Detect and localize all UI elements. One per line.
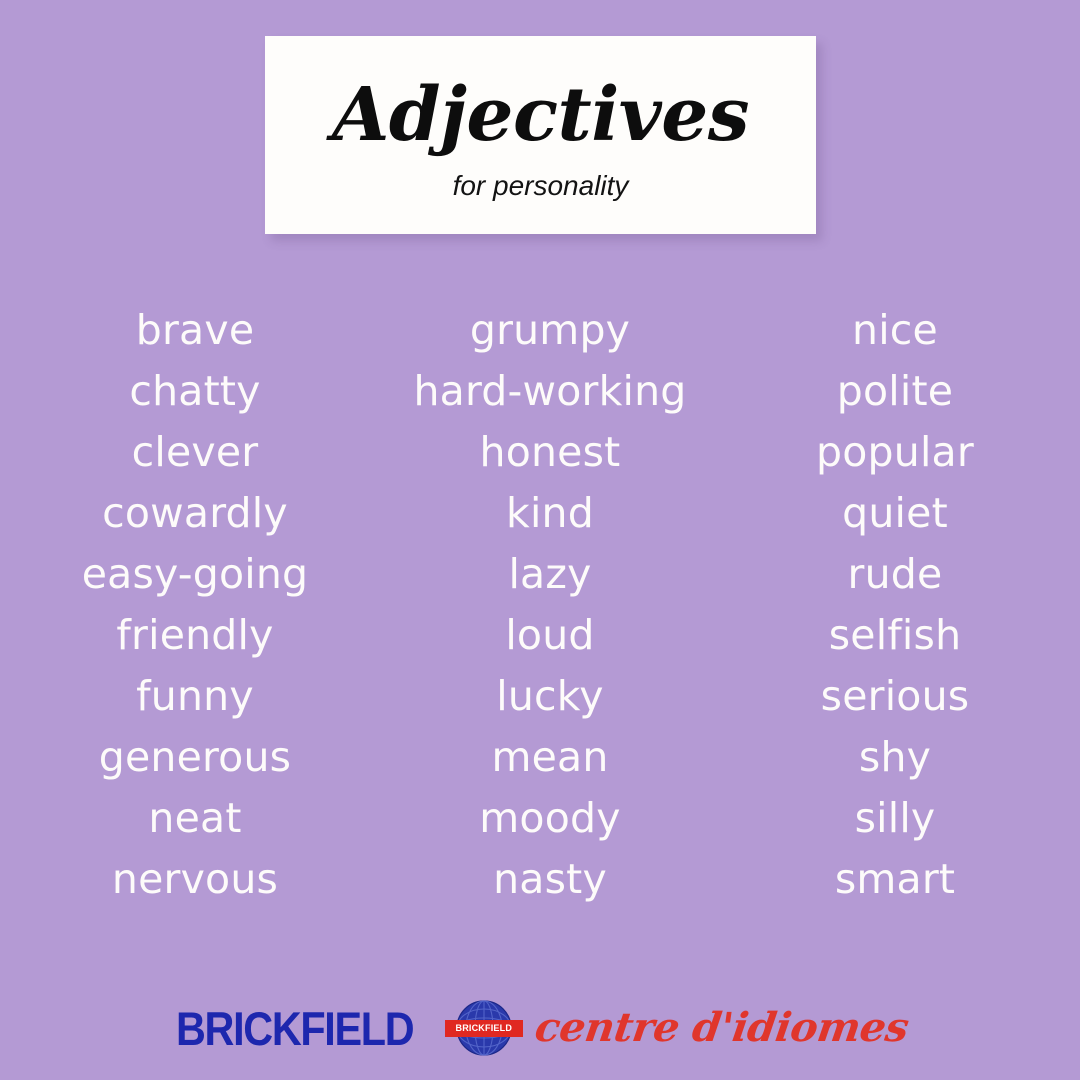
page-title: Adjectives [332,78,749,152]
footer-logo-lockup: BRICKFIELD BRICKFIELD centre d'idiomes [0,992,1080,1064]
list-item: funny [136,666,254,727]
list-item: serious [821,666,970,727]
title-card: Adjectives for personality [265,36,816,234]
list-item: loud [505,605,594,666]
list-item: lucky [496,666,603,727]
list-item: brave [136,300,255,361]
list-item: lazy [508,544,591,605]
list-item: quiet [842,483,948,544]
list-item: nervous [112,849,278,910]
list-item: neat [148,788,241,849]
list-item: easy-going [82,544,309,605]
page-subtitle: for personality [453,172,629,200]
adjective-column-2: grumpy hard-working honest kind lazy lou… [375,300,725,910]
globe-badge: BRICKFIELD [455,999,513,1057]
list-item: nasty [493,849,607,910]
list-item: honest [480,422,621,483]
list-item: shy [859,727,931,788]
list-item: silly [855,788,936,849]
adjective-column-3: nice polite popular quiet rude selfish s… [725,300,1065,910]
brand-wordmark: BRICKFIELD [176,1005,413,1052]
list-item: kind [506,483,594,544]
list-item: smart [835,849,955,910]
adjective-column-1: brave chatty clever cowardly easy-going … [15,300,375,910]
list-item: nice [852,300,938,361]
badge-label: BRICKFIELD [456,1023,513,1034]
list-item: selfish [829,605,962,666]
brand-tagline: centre d'idiomes [533,1008,911,1048]
list-item: hard-working [413,361,686,422]
list-item: cowardly [102,483,288,544]
list-item: clever [132,422,259,483]
list-item: popular [816,422,974,483]
list-item: moody [479,788,620,849]
list-item: rude [848,544,943,605]
list-item: mean [491,727,608,788]
list-item: chatty [129,361,260,422]
list-item: polite [837,361,953,422]
list-item: generous [99,727,291,788]
poster-canvas: Adjectives for personality brave chatty … [0,0,1080,1080]
list-item: grumpy [470,300,630,361]
list-item: friendly [116,605,273,666]
badge-banner: BRICKFIELD [445,1020,523,1037]
adjective-columns: brave chatty clever cowardly easy-going … [0,300,1080,920]
